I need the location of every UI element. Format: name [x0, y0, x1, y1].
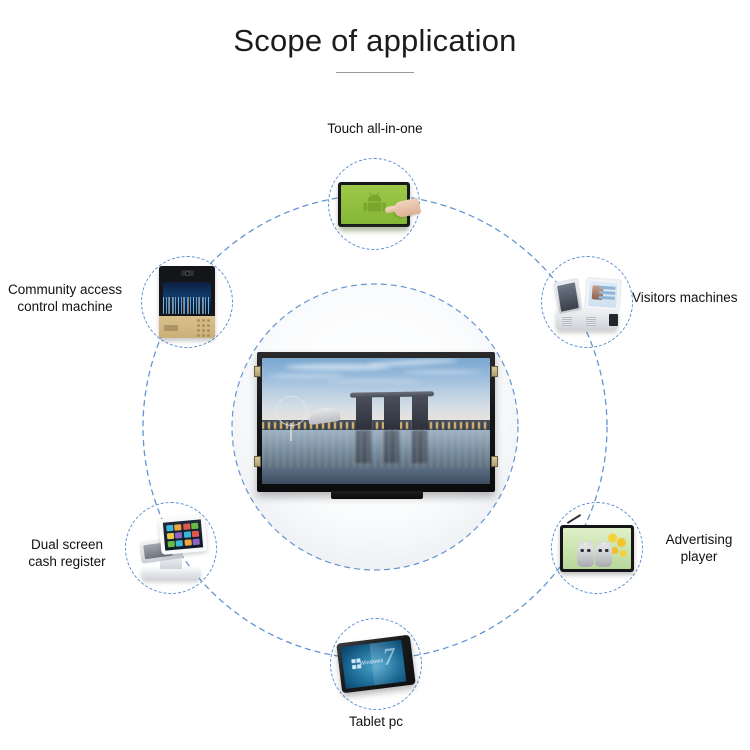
panel-mount-tab [491, 456, 498, 467]
scope-of-application-diagram: Touch all-in-one Community access contro… [0, 0, 750, 750]
cloud-icon [326, 379, 422, 383]
access-control-unit [159, 266, 215, 338]
lcd-display-panel [257, 352, 495, 498]
pos-register-icon [129, 506, 213, 590]
visitor-kiosk [550, 272, 624, 332]
scene-light-reflection [262, 430, 490, 468]
tower-icon [384, 395, 400, 428]
tablet-pc-icon: 7 Windows [334, 622, 418, 706]
touch-all-in-one-icon [332, 162, 416, 246]
tower-icon [412, 395, 428, 428]
brand-mark [164, 325, 178, 331]
card-slot-icon [609, 314, 618, 326]
tablet-screen: 7 Windows [341, 640, 407, 689]
node-visitors-machines[interactable] [541, 256, 633, 348]
node-advertising-player[interactable] [551, 502, 643, 594]
reflection [342, 227, 406, 235]
label-touch-all-in-one: Touch all-in-one [290, 120, 460, 137]
access-keypad-panel [159, 316, 215, 338]
arm [363, 203, 366, 212]
kitten-icon [577, 543, 594, 567]
panel-mount-tab [254, 456, 261, 467]
access-camera-bar [159, 266, 215, 280]
cloud-icon [367, 358, 458, 367]
cloud-icon [269, 374, 347, 378]
screen-glare [370, 640, 407, 686]
advertising-display [560, 525, 634, 572]
aio-monitor [338, 182, 410, 227]
eyes [580, 549, 591, 552]
vent-icon [586, 317, 596, 326]
kiosk-secondary-screen [553, 278, 584, 317]
label-dual-screen-cash-register: Dual screen cash register [8, 536, 126, 570]
pos-tile-grid [163, 519, 203, 550]
keypad-icon [197, 319, 210, 337]
vent-icon [562, 317, 572, 326]
cloud-icon [403, 370, 481, 374]
eyes [598, 549, 609, 552]
node-touch-all-in-one[interactable] [328, 158, 420, 250]
tablet-bezel: 7 Windows [336, 635, 416, 694]
node-dual-screen-cash-register[interactable] [125, 502, 217, 594]
pos-main-touchscreen [159, 515, 208, 555]
kiosk-screen-ui [588, 281, 618, 308]
head [367, 195, 381, 202]
panel-screen-image [262, 358, 490, 484]
tower-icon [356, 395, 372, 428]
node-community-access-control-machine[interactable] [141, 256, 233, 348]
kiosk-primary-screen [584, 277, 622, 312]
access-screen [163, 282, 211, 314]
tablet-device: 7 Windows [336, 635, 416, 694]
pos-terminal [134, 515, 208, 581]
ad-screen [563, 528, 631, 569]
advertising-player-icon [555, 506, 639, 590]
access-control-machine-icon [145, 260, 229, 344]
label-community-access-control-machine: Community access control machine [0, 281, 132, 315]
label-advertising-player: Advertising player [648, 531, 750, 565]
camera-icon [181, 270, 194, 276]
label-tablet-pc: Tablet pc [315, 713, 437, 730]
body [367, 203, 381, 212]
android-robot-icon [366, 195, 383, 214]
panel-bezel [257, 352, 495, 492]
kitten-icon [595, 543, 612, 567]
panel-mount-tab [254, 366, 261, 377]
marina-bay-sands-icon [353, 386, 431, 429]
node-tablet-pc[interactable]: 7 Windows [330, 618, 422, 710]
ferris-wheel-icon [276, 396, 308, 426]
label-visitors-machines: Visitors machines [632, 289, 750, 306]
panel-mount-tab [491, 366, 498, 377]
panel-stand [331, 491, 423, 499]
visitor-kiosk-icon [545, 260, 629, 344]
